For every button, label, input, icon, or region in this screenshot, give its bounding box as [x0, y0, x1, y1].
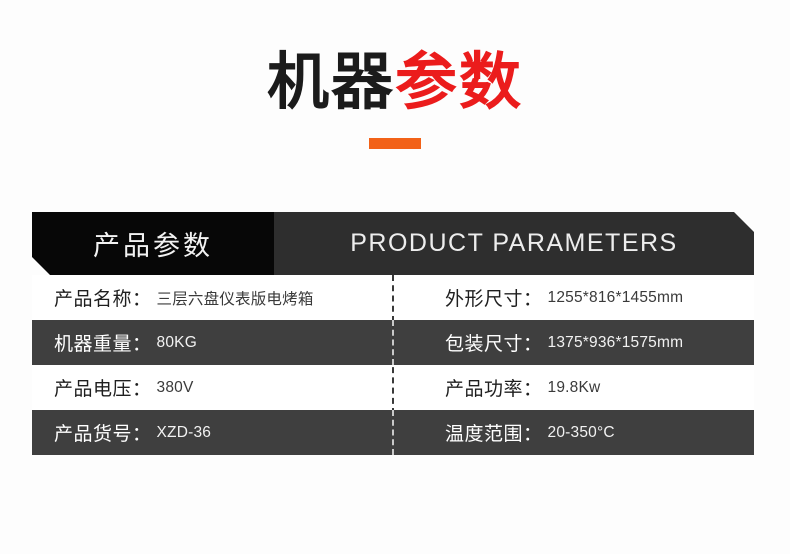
spec-label: 产品货号： [54, 419, 152, 446]
spec-value: 1255*816*1455mm [548, 289, 684, 307]
spec-label: 机器重量： [54, 329, 152, 356]
title-underline-bar [369, 138, 421, 149]
table-row: 产品名称： 三层六盘仪表版电烤箱 外形尺寸： 1255*816*1455mm [32, 275, 754, 320]
spec-value: 19.8Kw [548, 379, 601, 397]
spec-cell-left: 产品名称： 三层六盘仪表版电烤箱 [32, 275, 393, 320]
spec-label: 外形尺寸： [445, 284, 543, 311]
table-center-divider-inverse [392, 410, 394, 455]
spec-cell-right: 产品功率： 19.8Kw [393, 365, 754, 410]
spec-cell-right: 包装尺寸： 1375*936*1575mm [393, 320, 754, 365]
table-row: 产品电压： 380V 产品功率： 19.8Kw [32, 365, 754, 410]
spec-value: 1375*936*1575mm [548, 334, 684, 352]
spec-value: 20-350°C [548, 424, 615, 442]
section-header-bar: 产品参数 PRODUCT PARAMETERS [32, 212, 754, 275]
page-title-block: 机器参数 [0, 46, 790, 149]
spec-cell-left: 机器重量： 80KG [32, 320, 393, 365]
spec-label: 产品名称： [54, 284, 152, 311]
page-title: 机器参数 [0, 46, 790, 120]
spec-label: 产品电压： [54, 374, 152, 401]
table-center-divider-inverse [392, 320, 394, 365]
section-header-cn: 产品参数 [32, 212, 274, 275]
spec-label: 温度范围： [445, 419, 543, 446]
spec-label: 产品功率： [445, 374, 543, 401]
section-header-en-label: PRODUCT PARAMETERS [350, 229, 678, 258]
spec-cell-left: 产品货号： XZD-36 [32, 410, 393, 455]
spec-value: 380V [157, 379, 194, 397]
spec-cell-right: 温度范围： 20-350°C [393, 410, 754, 455]
spec-cell-right: 外形尺寸： 1255*816*1455mm [393, 275, 754, 320]
product-parameters-section: 产品参数 PRODUCT PARAMETERS 产品名称： 三层六盘仪表版电烤箱… [32, 212, 754, 455]
spec-value: 三层六盘仪表版电烤箱 [157, 287, 314, 309]
spec-value: XZD-36 [157, 424, 212, 442]
spec-value: 80KG [157, 334, 197, 352]
page-title-accent: 参数 [395, 48, 523, 117]
page-title-primary: 机器 [267, 48, 395, 117]
spec-cell-left: 产品电压： 380V [32, 365, 393, 410]
section-header-en: PRODUCT PARAMETERS [274, 212, 754, 275]
spec-table: 产品名称： 三层六盘仪表版电烤箱 外形尺寸： 1255*816*1455mm 机… [32, 275, 754, 455]
section-header-cn-label: 产品参数 [93, 224, 213, 263]
spec-label: 包装尺寸： [445, 329, 543, 356]
